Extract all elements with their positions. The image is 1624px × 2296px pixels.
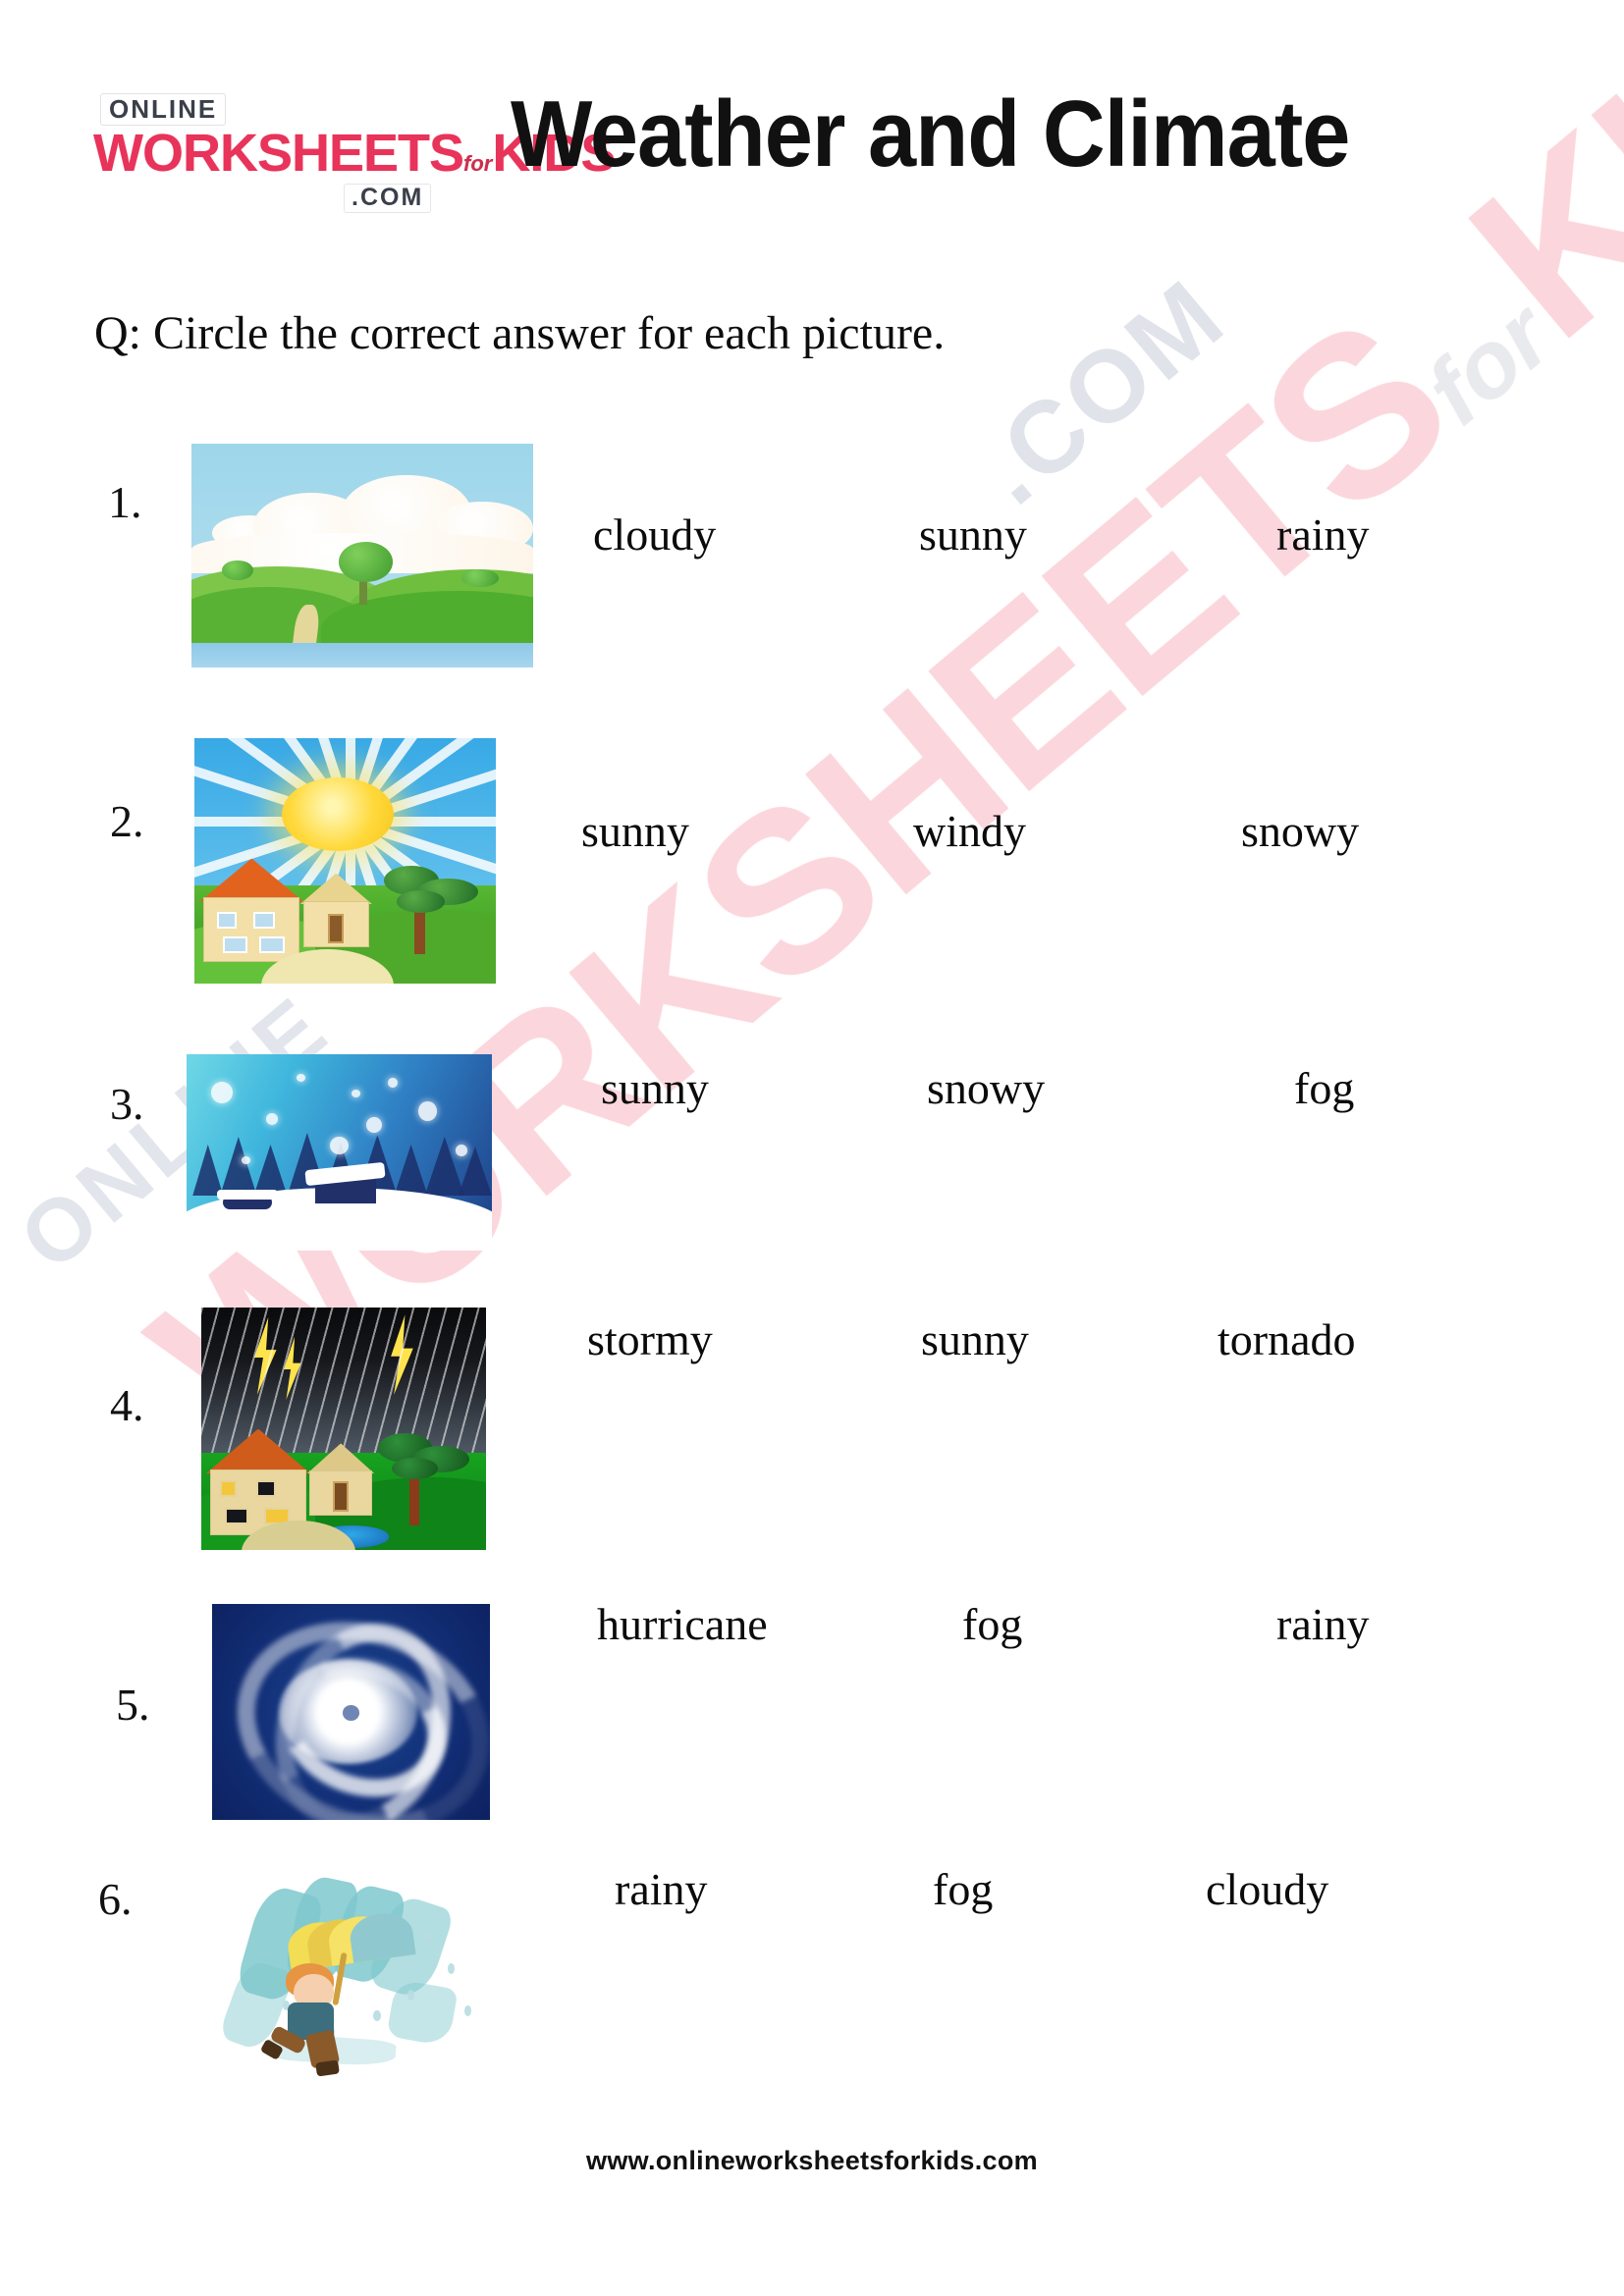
- question-image-3: [187, 1054, 492, 1251]
- logo-worksheets-text: WORKSHEETS: [93, 124, 463, 183]
- option-5-1[interactable]: hurricane: [597, 1598, 768, 1650]
- option-6-1[interactable]: rainy: [615, 1863, 708, 1915]
- option-2-1[interactable]: sunny: [581, 805, 689, 857]
- option-2-2[interactable]: windy: [913, 805, 1026, 857]
- option-2-3[interactable]: snowy: [1241, 805, 1359, 857]
- question-number-2: 2.: [110, 795, 144, 847]
- option-3-3[interactable]: fog: [1294, 1062, 1354, 1114]
- option-4-1[interactable]: stormy: [587, 1313, 713, 1365]
- question-number-5: 5.: [116, 1679, 150, 1731]
- page-header: ONLINE WORKSHEETSforKIDS .COM Weather an…: [0, 0, 1624, 265]
- option-5-2[interactable]: fog: [962, 1598, 1022, 1650]
- question-number-4: 4.: [110, 1379, 144, 1431]
- question-image-5: [212, 1604, 490, 1820]
- option-4-3[interactable]: tornado: [1218, 1313, 1356, 1365]
- logo-com-badge: .COM: [344, 184, 431, 213]
- site-logo[interactable]: ONLINE WORKSHEETSforKIDS .COM: [90, 93, 483, 221]
- question-image-4: [201, 1308, 486, 1550]
- option-5-3[interactable]: rainy: [1276, 1598, 1370, 1650]
- page-title: Weather and Climate: [511, 80, 1487, 188]
- instruction-text: Q: Circle the correct answer for each pi…: [94, 306, 945, 360]
- option-3-2[interactable]: snowy: [927, 1062, 1045, 1114]
- watermark-com-text: .COM: [956, 257, 1248, 528]
- option-4-2[interactable]: sunny: [921, 1313, 1029, 1365]
- option-3-1[interactable]: sunny: [601, 1062, 709, 1114]
- question-number-1: 1.: [108, 476, 142, 528]
- option-1-2[interactable]: sunny: [919, 508, 1027, 561]
- question-number-3: 3.: [110, 1078, 144, 1130]
- footer-url[interactable]: www.onlineworksheetsforkids.com: [0, 2146, 1624, 2176]
- logo-online-badge: ONLINE: [100, 93, 226, 126]
- logo-for-text: for: [463, 151, 492, 176]
- worksheet-page: ONLINE WORKSHEETSforKIDS .COM ONLINE WOR…: [0, 0, 1624, 2296]
- question-number-6: 6.: [98, 1873, 133, 1925]
- question-image-1: [191, 444, 533, 667]
- option-6-2[interactable]: fog: [933, 1863, 993, 1915]
- option-6-3[interactable]: cloudy: [1206, 1863, 1328, 1915]
- option-1-1[interactable]: cloudy: [593, 508, 716, 561]
- option-1-3[interactable]: rainy: [1276, 508, 1370, 561]
- question-image-2: [194, 738, 496, 984]
- question-image-6: [214, 1873, 499, 2138]
- watermark-for-text: for: [1407, 284, 1571, 445]
